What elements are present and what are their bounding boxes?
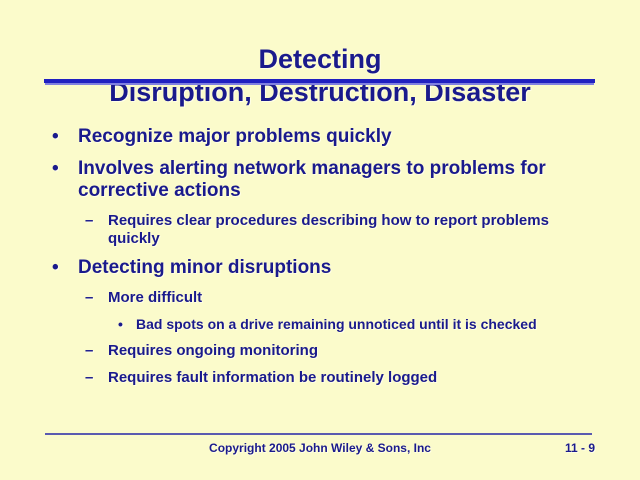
slide-footer: Copyright 2005 John Wiley & Sons, Inc 11… — [0, 441, 640, 459]
bullet-item: – More difficult — [0, 289, 640, 307]
bullet-text: Requires fault information be routinely … — [108, 369, 580, 387]
presentation-slide: Detecting Disruption, Destruction, Disas… — [0, 0, 640, 480]
bullet-text: Requires clear procedures describing how… — [108, 212, 580, 248]
bullet-marker-dot: • — [52, 257, 59, 279]
slide-title: Detecting Disruption, Destruction, Disas… — [0, 46, 640, 106]
bullet-marker-dot: • — [118, 316, 123, 333]
bullet-text: More difficult — [108, 289, 580, 307]
bullet-text: Recognize major problems quickly — [78, 126, 604, 148]
footer-page-number: 11 - 9 — [565, 441, 595, 455]
bullet-item: • Recognize major problems quickly — [0, 126, 640, 148]
bullet-item: – Requires ongoing monitoring — [0, 342, 640, 360]
bullet-text: Bad spots on a drive remaining unnoticed… — [136, 316, 584, 333]
bullet-marker-dash: – — [85, 369, 93, 387]
footer-copyright-text: Copyright 2005 John Wiley & Sons, Inc — [0, 441, 640, 455]
bullet-item: – Requires fault information be routinel… — [0, 369, 640, 387]
slide-body-bullets: • Recognize major problems quickly • Inv… — [0, 126, 640, 396]
bullet-text: Requires ongoing monitoring — [108, 342, 580, 360]
bullet-marker-dash: – — [85, 212, 93, 230]
bullet-marker-dot: • — [52, 126, 59, 148]
bullet-marker-dot: • — [52, 158, 59, 180]
title-line-secondary: Disruption, Destruction, Disaster — [0, 79, 640, 106]
bullet-text: Involves alerting network managers to pr… — [78, 158, 604, 202]
footer-divider-rule — [45, 433, 592, 435]
bullet-item: • Detecting minor disruptions — [0, 257, 640, 279]
bullet-marker-dash: – — [85, 289, 93, 307]
bullet-item: • Bad spots on a drive remaining unnotic… — [0, 316, 640, 333]
bullet-item: • Involves alerting network managers to … — [0, 158, 640, 202]
bullet-marker-dash: – — [85, 342, 93, 360]
title-line-primary: Detecting — [0, 46, 640, 73]
title-divider-rule — [44, 79, 595, 83]
bullet-text: Detecting minor disruptions — [78, 257, 604, 279]
bullet-item: – Requires clear procedures describing h… — [0, 212, 640, 248]
